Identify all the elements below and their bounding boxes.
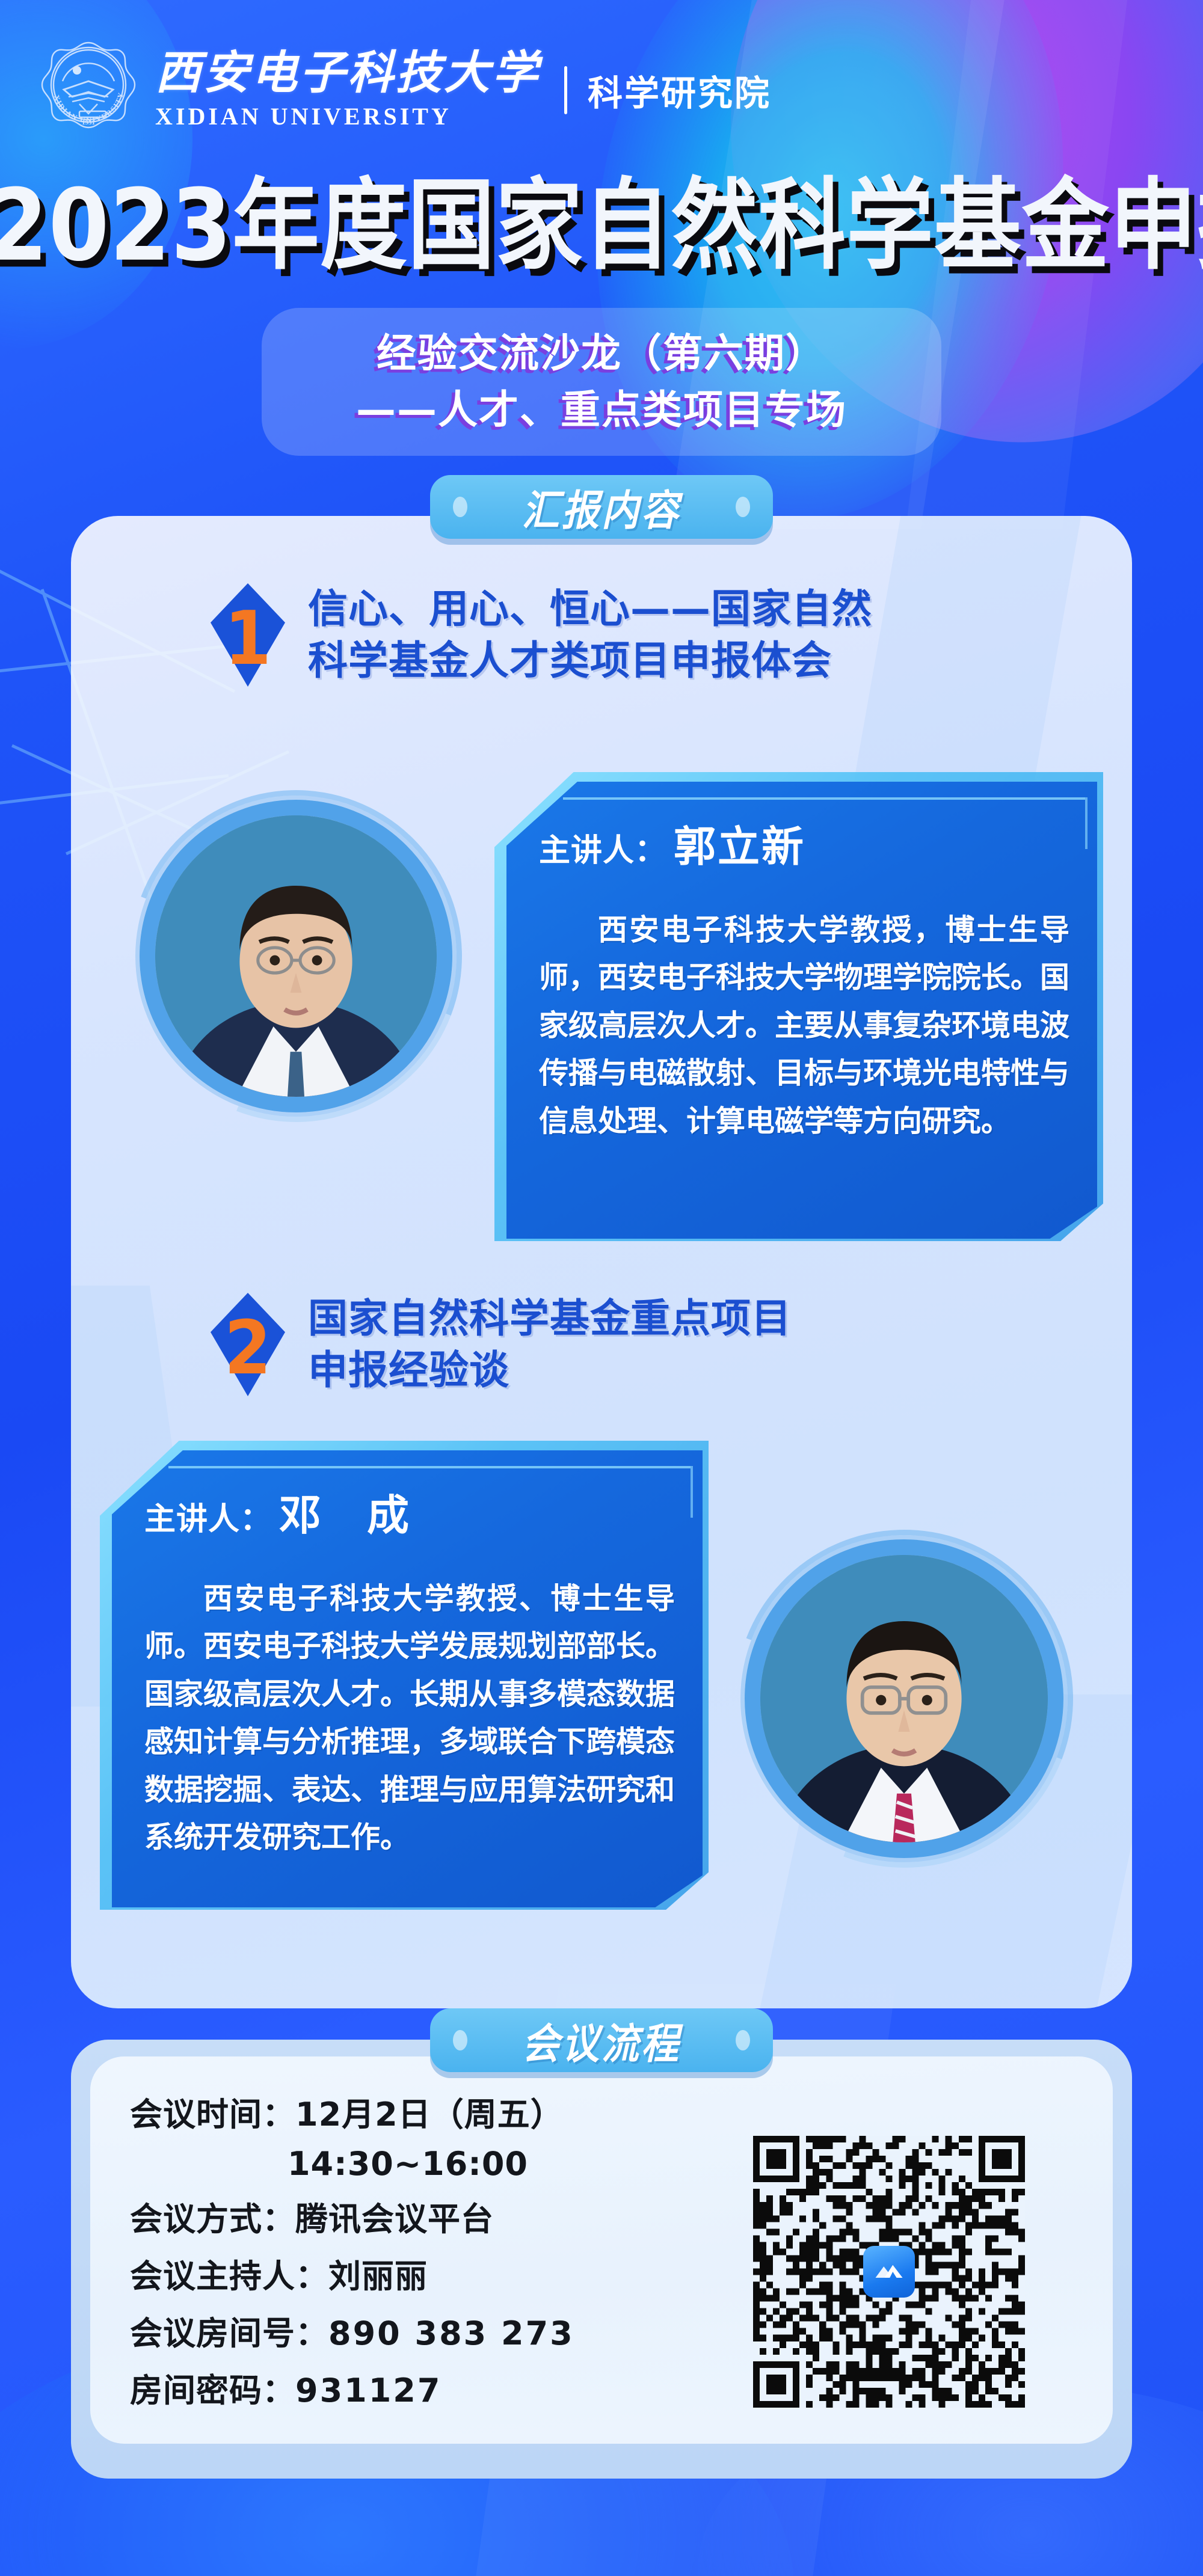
meeting-row-password: 房间密码： 931127 bbox=[130, 2364, 743, 2411]
meeting-time-value: 12月2日（周五） bbox=[295, 2088, 564, 2135]
section-badge-content: 汇报内容 bbox=[430, 475, 773, 539]
university-seal-icon: 1931 XIDIAN UNIVERSITY bbox=[37, 39, 140, 141]
header-divider bbox=[564, 66, 567, 114]
meeting-platform-value: 腾讯会议平台 bbox=[295, 2192, 494, 2240]
item-2-number: 2 bbox=[224, 1311, 271, 1385]
speaker-1-info-card: 主讲人： 郭立新 西安电子科技大学教授，博士生导师，西安电子科技大学物理学院院长… bbox=[506, 782, 1097, 1239]
poster-title: 2023年度国家自然科学基金申报 bbox=[0, 176, 1203, 277]
item-1-title-line-2: 科学基金人才类项目申报体会 bbox=[308, 635, 872, 687]
university-wordmark: 西安电子科技大学 XIDIAN UNIVERSITY bbox=[155, 50, 540, 131]
speaker-1-name-row: 主讲人： 郭立新 bbox=[539, 813, 1069, 874]
item-2-number-badge: 2 bbox=[211, 1293, 285, 1396]
speaker-2-name: 邓 成 bbox=[279, 1482, 411, 1542]
speaker-2-portrait bbox=[745, 1539, 1063, 1858]
meeting-row-host: 会议主持人： 刘丽丽 bbox=[130, 2249, 743, 2297]
tencent-meeting-logo-icon bbox=[863, 2246, 915, 2298]
meeting-room-id-value: 890 383 273 bbox=[328, 2314, 574, 2352]
meeting-time-label: 会议时间： bbox=[130, 2088, 295, 2135]
meeting-room-id-label: 会议房间号： bbox=[130, 2307, 328, 2354]
subtitle-line-2: ——人才、重点类项目专场 bbox=[356, 382, 847, 438]
item-2-title: 国家自然科学基金重点项目 申报经验谈 bbox=[308, 1293, 792, 1396]
meeting-row-platform: 会议方式： 腾讯会议平台 bbox=[130, 2192, 743, 2240]
item-1-number: 1 bbox=[224, 601, 271, 675]
item-1-title: 信心、用心、恒心——国家自然 科学基金人才类项目申报体会 bbox=[308, 583, 872, 687]
meeting-details-list: 会议时间： 12月2日（周五） 14:30~16:00 会议方式： 腾讯会议平台… bbox=[130, 2088, 743, 2421]
poster-title-text: 2023年度国家自然科学基金申报 bbox=[0, 168, 1203, 284]
svg-text:XIDIAN UNIVERSITY: XIDIAN UNIVERSITY bbox=[52, 91, 126, 124]
department-name: 科学研究院 bbox=[588, 65, 771, 115]
meeting-row-time-range: 14:30~16:00 bbox=[130, 2145, 743, 2183]
meeting-host-label: 会议主持人： bbox=[130, 2249, 328, 2297]
speaker-1-portrait bbox=[140, 800, 452, 1112]
meeting-row-room-id: 会议房间号： 890 383 273 bbox=[130, 2307, 743, 2354]
agenda-item-1-heading: 1 信心、用心、恒心——国家自然 科学基金人才类项目申报体会 bbox=[211, 583, 872, 687]
speaker-1-bio: 西安电子科技大学教授，博士生导师，西安电子科技大学物理学院院长。国家级高层次人才… bbox=[539, 906, 1069, 1145]
university-name-cn: 西安电子科技大学 bbox=[155, 50, 540, 98]
meeting-password-label: 房间密码： bbox=[130, 2364, 295, 2411]
portrait-2-photo bbox=[760, 1555, 1048, 1842]
speaker-1-label: 主讲人： bbox=[539, 825, 666, 870]
poster-subtitle-pill: 经验交流沙龙（第六期） ——人才、重点类项目专场 bbox=[262, 308, 941, 456]
tencent-meeting-qr-code[interactable] bbox=[753, 2136, 1025, 2408]
agenda-item-2-heading: 2 国家自然科学基金重点项目 申报经验谈 bbox=[211, 1293, 792, 1396]
portrait-1-photo bbox=[155, 815, 437, 1097]
meeting-row-time: 会议时间： 12月2日（周五） bbox=[130, 2088, 743, 2135]
badge-dot-left-icon bbox=[453, 497, 467, 517]
meeting-host-value: 刘丽丽 bbox=[328, 2249, 428, 2297]
item-2-title-line-2: 申报经验谈 bbox=[308, 1345, 792, 1396]
meeting-platform-label: 会议方式： bbox=[130, 2192, 295, 2240]
subtitle-line-1: 经验交流沙龙（第六期） bbox=[377, 325, 826, 382]
speaker-2-label: 主讲人： bbox=[144, 1494, 272, 1539]
site-header: 1931 XIDIAN UNIVERSITY 西安电子科技大学 XIDIAN U… bbox=[0, 0, 1203, 180]
speaker-2-bio: 西安电子科技大学教授、博士生导师。西安电子科技大学发展规划部部长。国家级高层次人… bbox=[144, 1575, 675, 1861]
speaker-2-info-card: 主讲人： 邓 成 西安电子科技大学教授、博士生导师。西安电子科技大学发展规划部部… bbox=[112, 1450, 703, 1907]
item-1-number-badge: 1 bbox=[211, 583, 285, 687]
meeting-time-range-value: 14:30~16:00 bbox=[288, 2145, 528, 2183]
section-badge-content-label: 汇报内容 bbox=[522, 477, 681, 538]
university-name-en: XIDIAN UNIVERSITY bbox=[155, 102, 540, 130]
section-badge-agenda-label: 会议流程 bbox=[522, 2010, 681, 2071]
meeting-password-value: 931127 bbox=[295, 2372, 442, 2409]
item-2-title-line-1: 国家自然科学基金重点项目 bbox=[308, 1293, 792, 1345]
badge-dot-right-icon bbox=[736, 2030, 750, 2050]
speaker-2-name-row: 主讲人： 邓 成 bbox=[144, 1482, 675, 1542]
speaker-1-name: 郭立新 bbox=[674, 813, 805, 874]
badge-dot-left-icon bbox=[453, 2030, 467, 2050]
badge-dot-right-icon bbox=[736, 497, 750, 517]
item-1-title-line-1: 信心、用心、恒心——国家自然 bbox=[308, 583, 872, 635]
section-badge-agenda: 会议流程 bbox=[430, 2008, 773, 2072]
